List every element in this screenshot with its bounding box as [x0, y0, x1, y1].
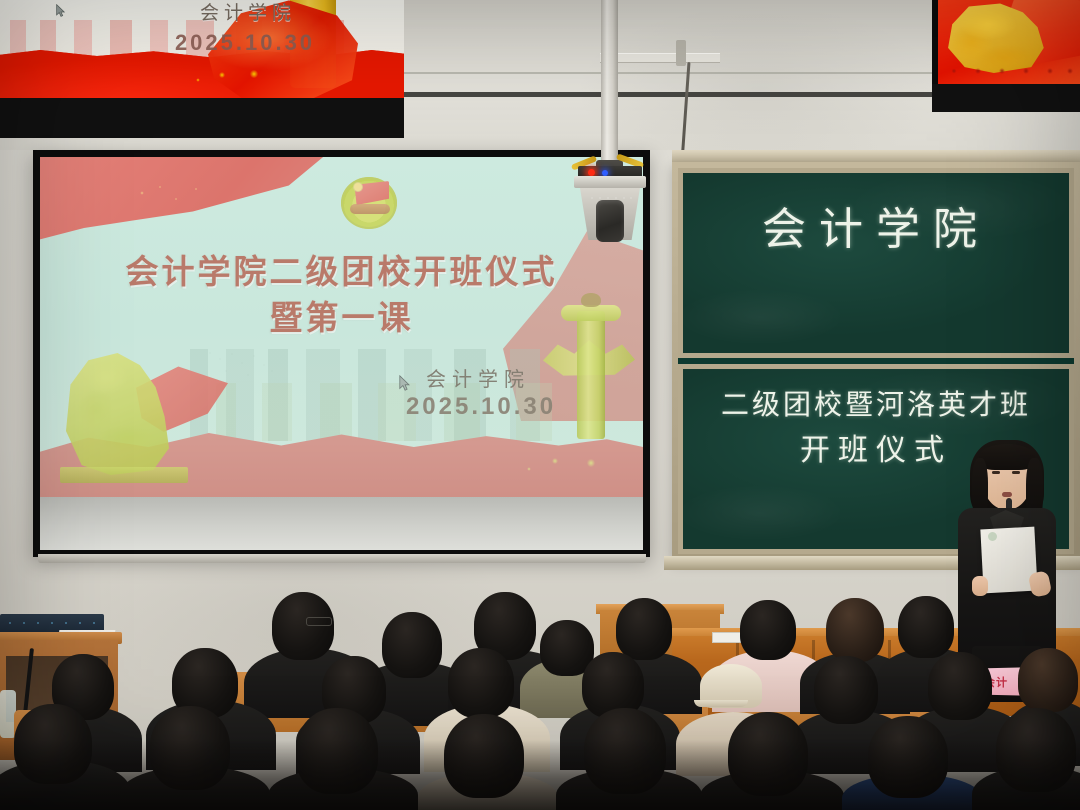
eyeglasses-icon — [306, 617, 332, 626]
slide-title-line1: 会计学院二级团校开班仪式 — [40, 245, 643, 293]
led-monitor-right-bezel — [932, 84, 1080, 112]
projection-screen-bottom-bar — [38, 554, 646, 563]
presenter-hand-left — [972, 576, 988, 596]
ceiling-mount-pole — [601, 0, 618, 166]
camera-record-led-icon — [588, 169, 595, 176]
audience-head — [382, 612, 442, 678]
audience-head — [14, 704, 92, 784]
blackboard-heading-text: 会计学院 — [683, 193, 1069, 257]
led-monitor-right-panel — [938, 0, 1080, 84]
slide-organization-text: 会计学院 — [383, 363, 573, 392]
camera-shelf — [574, 176, 646, 188]
audience-head — [898, 596, 954, 658]
audience-head — [444, 714, 524, 798]
presenter-mouth — [1002, 492, 1012, 497]
led-monitor-left-bezel — [0, 98, 404, 138]
cap-brim — [694, 700, 748, 707]
slide-huabiao-cap — [561, 305, 621, 321]
blackboard-upper-panel: 会计学院 — [678, 168, 1074, 358]
emblem-star-icon — [354, 183, 362, 191]
slide-huabiao-bird — [581, 293, 601, 307]
audience-head — [728, 712, 808, 796]
blackboard-subtitle-line1: 二级团校暨河洛英才班 — [683, 383, 1069, 423]
slide-gold-stars — [521, 451, 621, 479]
projection-screen-surface: 会计学院二级团校开班仪式 暨第一课 会计学院 2025.10.30 — [40, 157, 643, 550]
monitor-date-text: 2025.10.30 — [130, 28, 360, 58]
slide-flag-stars — [136, 183, 246, 213]
presenter-hair-fringe — [979, 444, 1035, 470]
monitor-slide-stars — [188, 66, 308, 88]
audience-head — [584, 708, 666, 794]
av-rack-led-row — [4, 620, 100, 627]
slide-lion-base — [60, 467, 188, 483]
slide-huabiao-column — [577, 311, 605, 439]
led-monitor-left-panel: 会计学院 2025.10.30 — [0, 0, 404, 98]
audience-head — [814, 656, 878, 724]
wall-bracket — [676, 40, 686, 66]
wall-mount-rail — [600, 53, 720, 63]
presentation-slide: 会计学院二级团校开班仪式 暨第一课 会计学院 2025.10.30 — [40, 157, 643, 497]
speech-paper-mark — [988, 532, 997, 541]
audience-head — [996, 708, 1076, 792]
emblem-banner — [350, 204, 390, 214]
audience-head — [616, 598, 672, 660]
mouse-pointer-icon — [399, 375, 410, 391]
slide-letterbox-bar — [40, 497, 643, 550]
monitor-organization-text: 会计学院 — [148, 0, 348, 28]
audience-head — [150, 706, 230, 790]
classroom-ceremony-photo: 会计学院 2025.10.30 — [0, 0, 1080, 810]
monitor-right-glyph-row — [946, 64, 1076, 78]
presenter-eye-left — [992, 471, 1000, 474]
slide-title-line2: 暨第一课 — [40, 291, 643, 339]
audience-head — [868, 716, 948, 798]
camera-lens-icon — [596, 200, 624, 242]
led-monitor-right — [932, 0, 1080, 112]
audience-head — [826, 598, 884, 662]
audience-head — [928, 652, 992, 720]
communist-youth-league-emblem — [341, 177, 397, 229]
projection-screen[interactable]: 会计学院二级团校开班仪式 暨第一课 会计学院 2025.10.30 — [33, 150, 650, 557]
slide-dot-cluster — [206, 349, 282, 385]
slide-date-text: 2025.10.30 — [371, 393, 591, 421]
audience-head — [296, 708, 378, 794]
presenter-eye-right — [1012, 471, 1020, 474]
audience-head — [1018, 648, 1078, 712]
audience-head — [740, 600, 796, 660]
led-monitor-left: 会计学院 2025.10.30 — [0, 0, 404, 138]
audience-head — [272, 592, 334, 660]
audience-head — [448, 648, 514, 718]
mouse-pointer-icon — [56, 4, 65, 17]
